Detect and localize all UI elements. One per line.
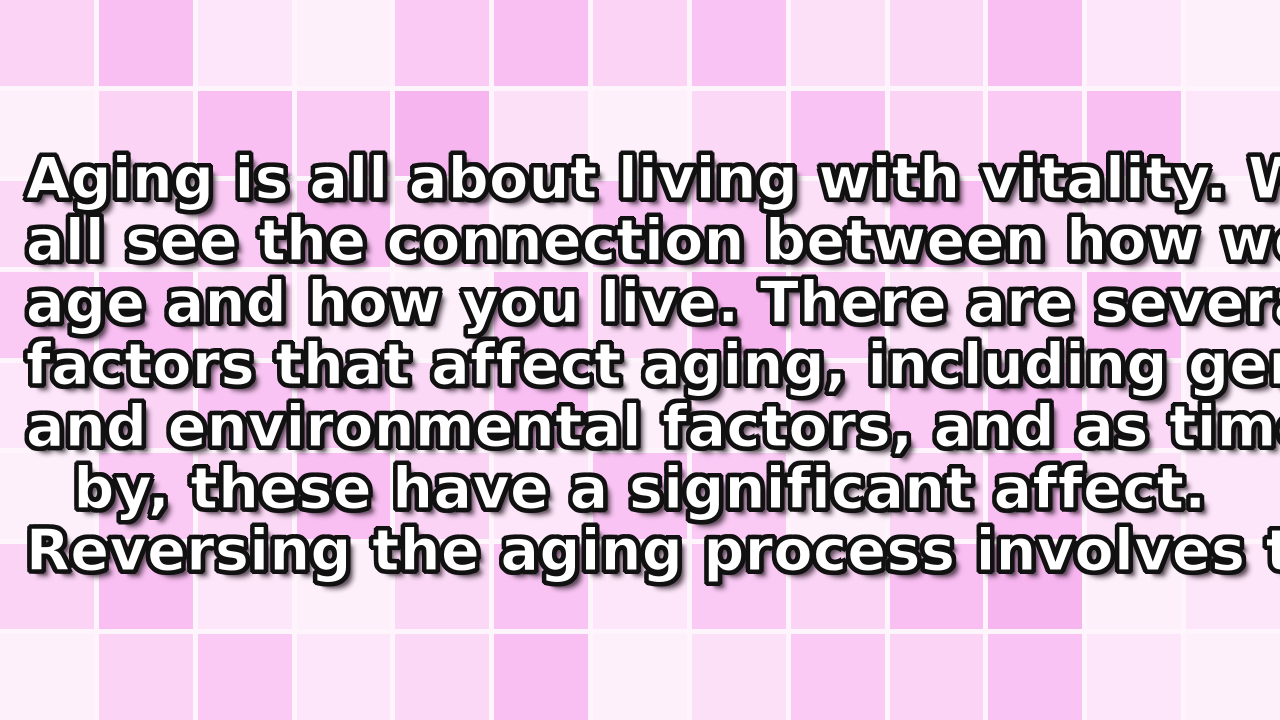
- background-tile: [593, 634, 687, 720]
- background-tile: [1186, 634, 1280, 720]
- background-tile: [297, 634, 391, 720]
- background-tile: [297, 0, 391, 86]
- background-tile: [791, 0, 885, 86]
- background-tile: [198, 0, 292, 86]
- background-tile: [494, 0, 588, 86]
- background-tile: [593, 0, 687, 86]
- background-tile: [988, 634, 1082, 720]
- background-tile: [1186, 0, 1280, 86]
- background-tile: [890, 0, 984, 86]
- caption-line-2: all see the connection between how well …: [26, 210, 1254, 272]
- background-tile: [494, 634, 588, 720]
- background-tile: [99, 0, 193, 86]
- caption-block: Aging is all about living with vitality.…: [0, 148, 1280, 582]
- background-tile: [395, 634, 489, 720]
- background-tile: [0, 634, 94, 720]
- caption-line-3: age and how you live. There are several: [26, 272, 1254, 334]
- slide-canvas: Aging is all about living with vitality.…: [0, 0, 1280, 720]
- background-tile: [791, 634, 885, 720]
- background-tile: [99, 634, 193, 720]
- background-tile: [890, 634, 984, 720]
- caption-line-4: factors that affect aging, including gen…: [26, 334, 1254, 396]
- background-tile: [692, 0, 786, 86]
- caption-line-5: and environmental factors, and as time g…: [26, 396, 1254, 458]
- background-tile: [692, 634, 786, 720]
- background-tile: [1087, 634, 1181, 720]
- caption-line-7: Reversing the aging process involves the: [26, 520, 1254, 582]
- background-tile: [1087, 0, 1181, 86]
- caption-line-6: by, these have a significant affect.: [26, 458, 1254, 520]
- background-tile: [0, 0, 94, 86]
- caption-line-1: Aging is all about living with vitality.…: [26, 148, 1254, 210]
- background-tile: [988, 0, 1082, 86]
- background-tile: [198, 634, 292, 720]
- background-tile: [395, 0, 489, 86]
